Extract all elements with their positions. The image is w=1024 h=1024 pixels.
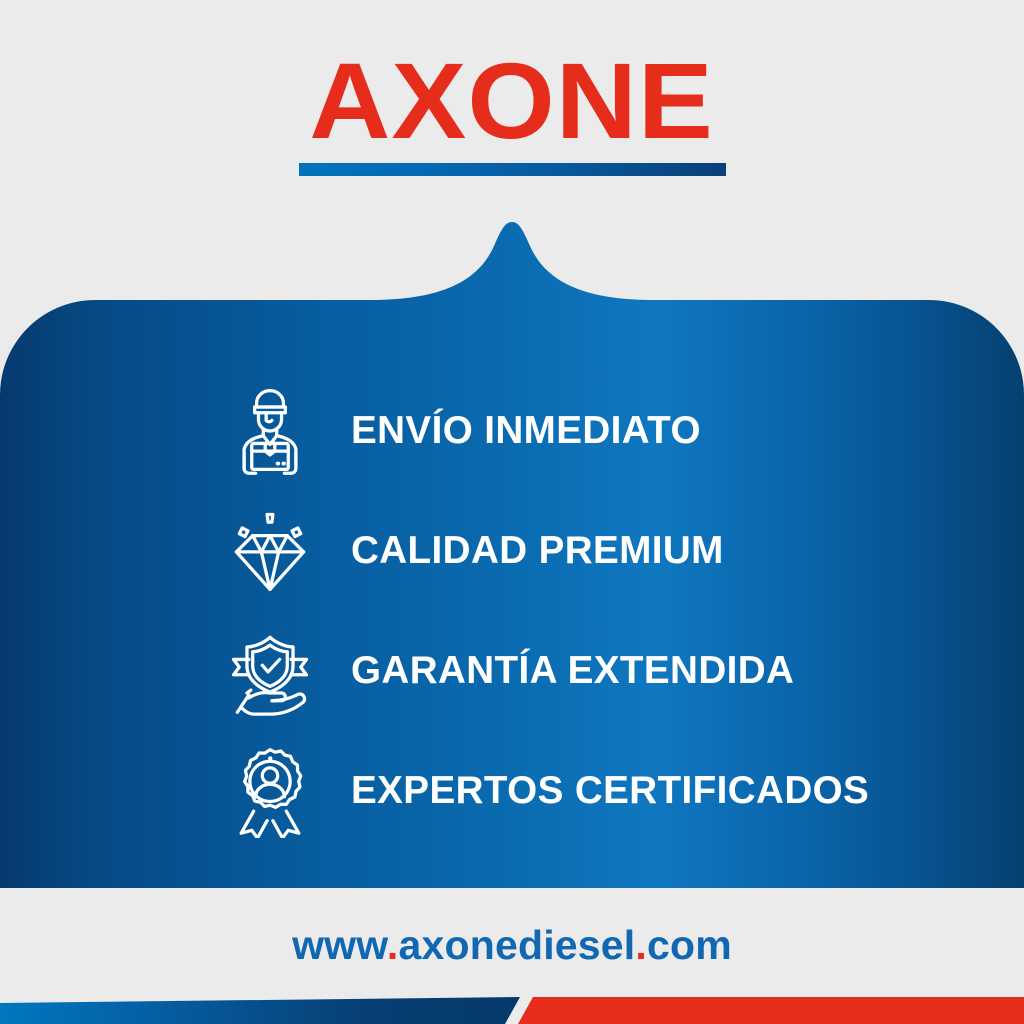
award-rosette-person-icon bbox=[222, 742, 318, 838]
website-tld: com bbox=[647, 922, 732, 968]
diamond-sparkle-icon bbox=[222, 502, 318, 598]
footer-bar-right bbox=[518, 997, 1024, 1024]
feature-item-envio-inmediato: ENVÍO INMEDIATO bbox=[0, 370, 1024, 490]
footer-accent-bar bbox=[0, 986, 1024, 1024]
feature-label: ENVÍO INMEDIATO bbox=[351, 411, 701, 450]
website-url[interactable]: www.axonediesel.com bbox=[0, 925, 1024, 966]
feature-item-garantia-extendida: GARANTÍA EXTENDIDA bbox=[0, 610, 1024, 730]
feature-list: ENVÍO INMEDIATO CALIDAD P bbox=[0, 370, 1024, 850]
website-dot-1: . bbox=[387, 922, 399, 968]
brand-logo: AXONE bbox=[0, 47, 1024, 155]
shield-check-hand-icon bbox=[222, 622, 318, 718]
feature-item-expertos-certificados: EXPERTOS CERTIFICADOS bbox=[0, 730, 1024, 850]
website-domain: axonediesel bbox=[398, 922, 635, 968]
feature-item-calidad-premium: CALIDAD PREMIUM bbox=[0, 490, 1024, 610]
website-dot-2: . bbox=[635, 922, 647, 968]
promo-poster: AXONE bbox=[0, 0, 1024, 1024]
footer-bar-left bbox=[0, 997, 520, 1024]
feature-label: EXPERTOS CERTIFICADOS bbox=[351, 771, 869, 810]
brand-logo-text: AXONE bbox=[310, 47, 715, 155]
feature-label: CALIDAD PREMIUM bbox=[351, 531, 724, 570]
brand-logo-underline bbox=[299, 163, 726, 176]
feature-label: GARANTÍA EXTENDIDA bbox=[351, 651, 794, 690]
website-prefix: www bbox=[292, 922, 387, 968]
delivery-person-package-icon bbox=[222, 382, 318, 478]
